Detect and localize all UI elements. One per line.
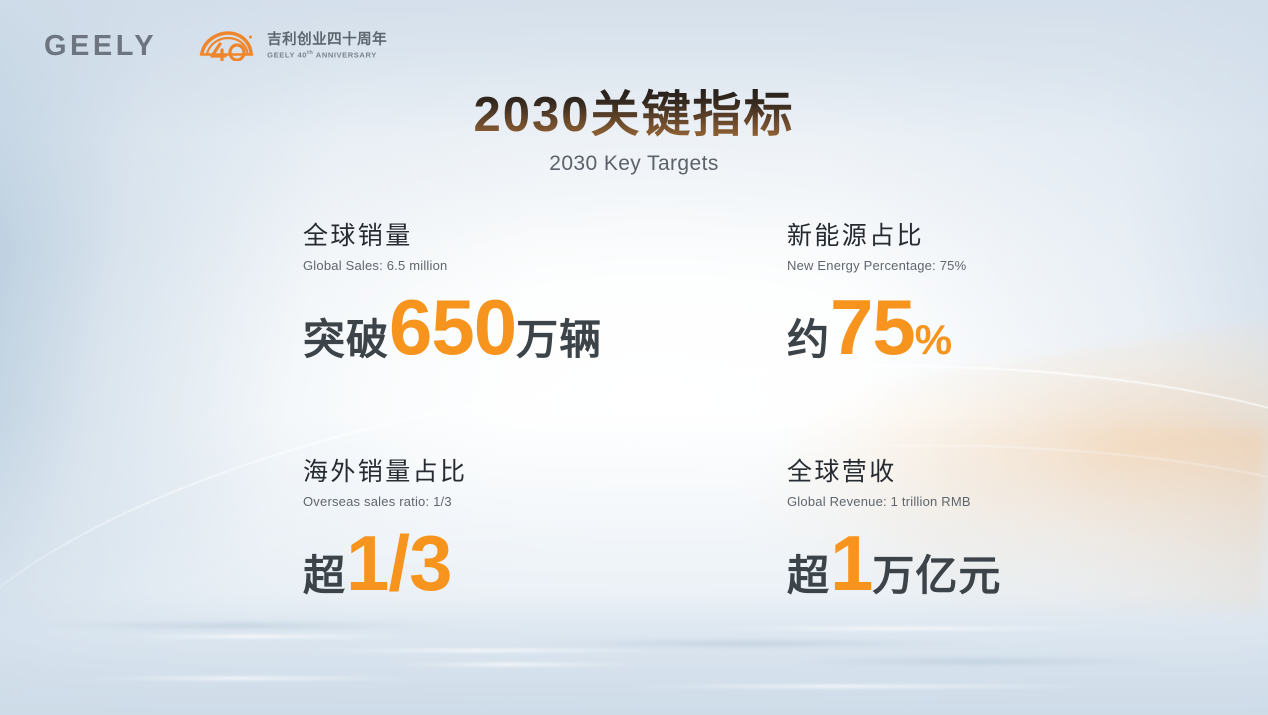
anniversary-chinese: 吉利创业四十周年 — [267, 33, 387, 48]
metric-heading: 新能源占比 — [787, 224, 1187, 249]
anniversary-text-block: 吉利创业四十周年 GEELY 40th ANNIVERSARY — [267, 33, 387, 59]
page-title: 2030关键指标 — [473, 88, 794, 143]
metric-card-overseas-ratio: 海外销量占比 Overseas sales ratio: 1/3 超 1/3 — [303, 460, 787, 600]
geely-40-anniversary-emblem-icon — [199, 31, 255, 61]
metric-value-number: 75 — [830, 290, 915, 364]
page-subtitle: 2030 Key Targets — [0, 152, 1268, 176]
geely-wordmark: GEELY — [44, 32, 157, 61]
metric-value: 约 75 % — [787, 290, 1187, 364]
metric-value-prefix: 超 — [303, 555, 346, 597]
title-block: 2030关键指标 2030 Key Targets — [0, 88, 1268, 176]
metric-card-global-sales: 全球销量 Global Sales: 6.5 million 突破 650 万辆 — [303, 224, 787, 460]
metrics-grid: 全球销量 Global Sales: 6.5 million 突破 650 万辆… — [303, 224, 1183, 600]
metric-value-suffix: % — [915, 319, 952, 361]
metric-value: 超 1 万亿元 — [787, 526, 1187, 600]
metric-value-number: 1 — [830, 526, 872, 600]
metric-value-prefix: 突破 — [303, 319, 389, 361]
metric-subtitle: New Energy Percentage: 75% — [787, 259, 1187, 272]
metric-value: 超 1/3 — [303, 526, 787, 600]
metric-value: 突破 650 万辆 — [303, 290, 787, 364]
metric-value-number: 650 — [389, 290, 516, 364]
metric-value-suffix: 万辆 — [516, 319, 602, 361]
metric-heading: 全球销量 — [303, 224, 787, 249]
metric-card-global-revenue: 全球营收 Global Revenue: 1 trillion RMB 超 1 … — [787, 460, 1187, 600]
brand-logo-bar: GEELY 吉利创业四十周年 GEELY 40th ANNIVERSARY — [44, 26, 387, 66]
metric-subtitle: Global Sales: 6.5 million — [303, 259, 787, 272]
metric-card-new-energy: 新能源占比 New Energy Percentage: 75% 约 75 % — [787, 224, 1187, 460]
metric-subtitle: Global Revenue: 1 trillion RMB — [787, 495, 1187, 508]
slide-canvas: GEELY 吉利创业四十周年 GEELY 40th ANNIVERSARY 20… — [0, 0, 1268, 715]
metric-value-prefix: 约 — [787, 319, 830, 361]
metric-value-suffix: 万亿元 — [872, 555, 1001, 597]
metric-subtitle: Overseas sales ratio: 1/3 — [303, 495, 787, 508]
anniversary-english-suffix: ANNIVERSARY — [313, 50, 376, 59]
anniversary-english-prefix: GEELY 40 — [267, 50, 307, 59]
background-water-reflection — [0, 597, 1268, 715]
metric-value-number: 1/3 — [346, 526, 451, 600]
metric-heading: 全球营收 — [787, 460, 1187, 485]
anniversary-english: GEELY 40th ANNIVERSARY — [267, 51, 387, 59]
metric-heading: 海外销量占比 — [303, 460, 787, 485]
metric-value-prefix: 超 — [787, 555, 830, 597]
